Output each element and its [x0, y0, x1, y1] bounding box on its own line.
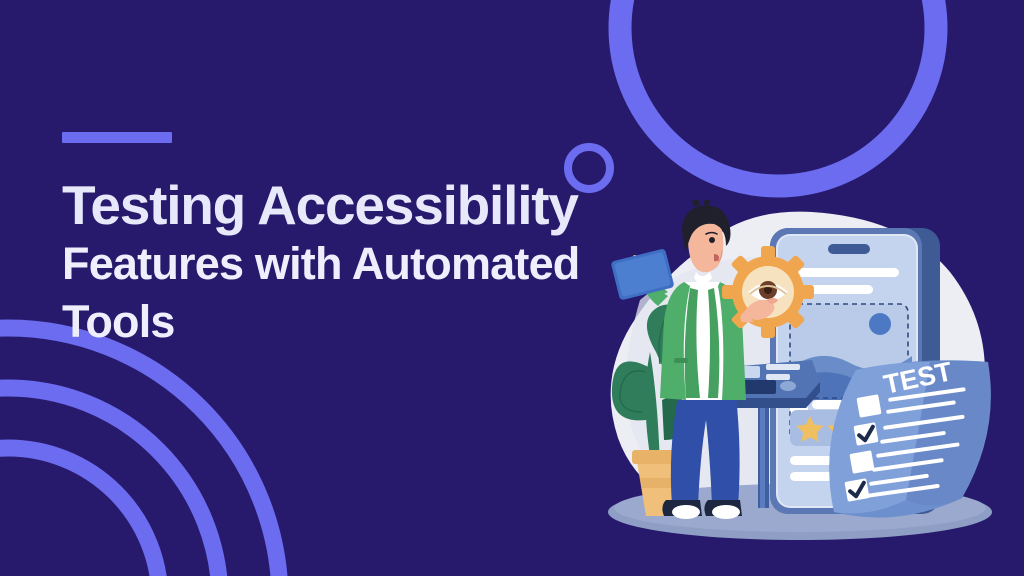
page-title: Testing Accessibility — [62, 175, 762, 235]
banner-root: TEST — [0, 0, 1024, 576]
headline-block: Testing Accessibility Features with Auto… — [62, 132, 762, 351]
accent-rule — [62, 132, 172, 143]
page-subtitle: Features with Automated Tools — [62, 235, 647, 351]
